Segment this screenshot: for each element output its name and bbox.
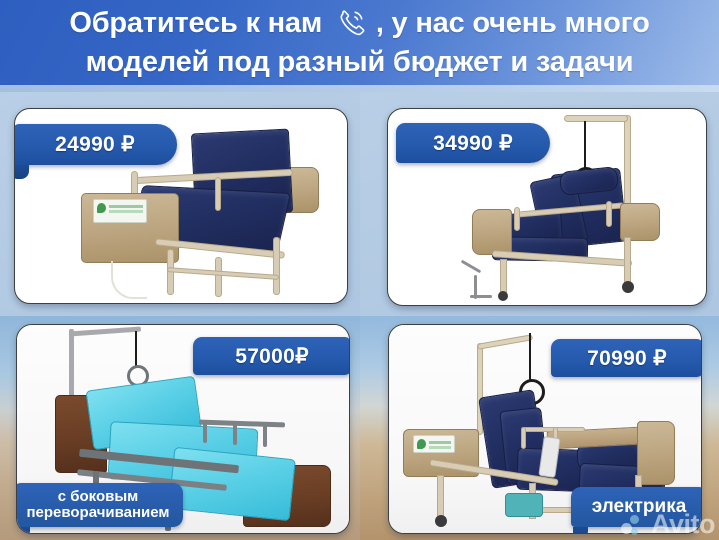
- price-ribbon-2: 34990 ₽: [396, 123, 550, 163]
- price-ribbon-1: 24990 ₽: [14, 124, 177, 165]
- header-text-before-icon: Обратитесь к нам: [69, 7, 322, 39]
- price-label-2: 34990 ₽: [433, 133, 513, 154]
- header-text-after-icon: , у нас очень много: [376, 7, 650, 39]
- phone-call-icon: [336, 8, 366, 38]
- product-card-grid: 24990 ₽: [0, 92, 719, 540]
- product-card-1[interactable]: 24990 ₽: [14, 108, 348, 304]
- bed-toilet-pan: [505, 493, 543, 517]
- ribbon-tail-3: [197, 375, 213, 387]
- product-card-3[interactable]: 57000₽ с боковым переворачиванием: [16, 324, 350, 534]
- header-headline-line-2: моделей под разный бюджет и задачи: [0, 43, 719, 81]
- ribbon-tail-4: [555, 377, 571, 389]
- feature-badge-electric-label: электрика: [592, 497, 687, 517]
- product-cell-2: 34990 ₽: [360, 92, 719, 316]
- feature-badge-line-2: переворачиванием: [26, 505, 169, 521]
- product-card-4[interactable]: 70990 ₽ электрика: [388, 324, 702, 534]
- price-label-1: 24990 ₽: [55, 134, 135, 155]
- header-headline-line-1: Обратитесь к нам , у нас очень много: [0, 4, 719, 42]
- header-banner: Обратитесь к нам , у нас очень много мод…: [0, 0, 719, 92]
- ribbon-tail-2: [396, 163, 413, 176]
- feature-badge-lateral-turning: с боковым переворачиванием: [16, 483, 183, 527]
- feature-badge-line-1: с боковым: [58, 489, 139, 505]
- price-label-4: 70990 ₽: [587, 348, 667, 369]
- price-ribbon-3: 57000₽: [193, 337, 350, 375]
- product-label-sticker: [93, 199, 147, 223]
- feature-badge-electric: электрика: [571, 487, 702, 527]
- product-card-2[interactable]: 34990 ₽: [387, 108, 707, 306]
- badge-tail-3: [16, 527, 30, 534]
- product-cell-4: 70990 ₽ электрика: [360, 316, 719, 540]
- price-label-3: 57000₽: [235, 346, 309, 367]
- advertisement-image: Обратитесь к нам , у нас очень много мод…: [0, 0, 719, 540]
- badge-tail-4: [573, 527, 588, 534]
- product-cell-1: 24990 ₽: [0, 92, 360, 316]
- price-ribbon-4: 70990 ₽: [551, 339, 702, 377]
- product-cell-3: 57000₽ с боковым переворачиванием: [0, 316, 360, 540]
